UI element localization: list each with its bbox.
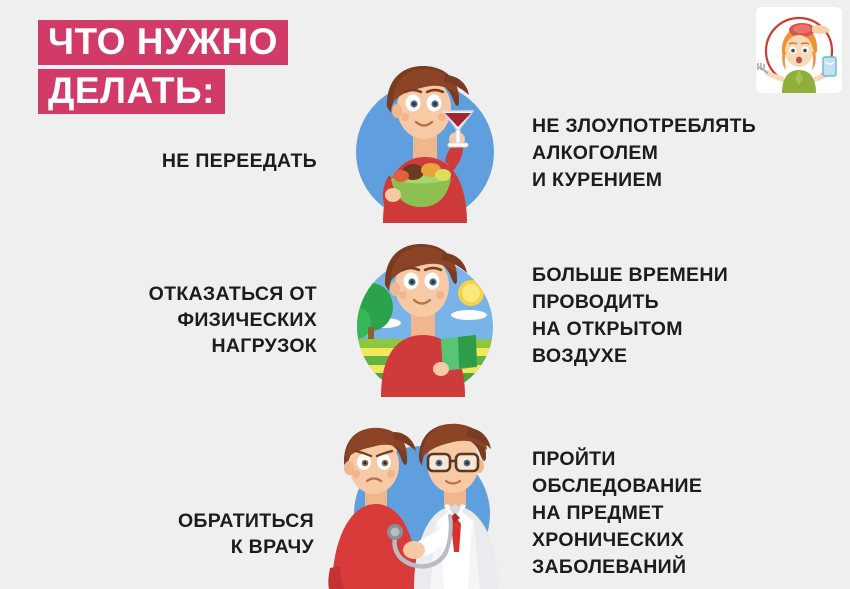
page-title: ЧТО НУЖНО ДЕЛАТЬ: — [38, 20, 288, 114]
label-left-row-2: ОТКАЗАТЬСЯ ОТ ФИЗИЧЕСКИХ НАГРУЗОК — [149, 281, 317, 359]
label-left-row-3-line-2: К ВРАЧУ — [178, 534, 314, 560]
label-left-row-1: НЕ ПЕРЕЕДАТЬ — [162, 148, 317, 174]
illustration-doctor-examining-patient — [318, 418, 523, 589]
label-right-row-3: ПРОЙТИ ОБСЛЕДОВАНИЕ НА ПРЕДМЕТ ХРОНИЧЕСК… — [532, 446, 702, 581]
illustration-man-with-salad-and-wine-glass — [345, 55, 505, 223]
label-right-row-2-line-3: НА ОТКРЫТОМ — [532, 316, 728, 343]
label-right-row-2-line-1: БОЛЬШЕ ВРЕМЕНИ — [532, 262, 728, 289]
label-right-row-1-line-2: АЛКОГОЛЕМ — [532, 140, 756, 167]
page-title-line-2: ДЕЛАТЬ: — [38, 69, 225, 114]
label-right-row-3-line-5: ЗАБОЛЕВАНИЙ — [532, 554, 702, 581]
label-right-row-2-line-4: ВОЗДУХЕ — [532, 343, 728, 370]
label-right-row-1: НЕ ЗЛОУПОТРЕБЛЯТЬ АЛКОГОЛЕМ И КУРЕНИЕМ — [532, 113, 756, 194]
label-left-row-3: ОБРАТИТЬСЯ К ВРАЧУ — [178, 508, 314, 560]
hangover-woman-logo — [756, 7, 842, 93]
logo-illustration — [756, 7, 842, 93]
label-right-row-1-line-3: И КУРЕНИЕМ — [532, 167, 756, 194]
infographic-page: ЧТО НУЖНО ДЕЛАТЬ: — [0, 0, 850, 589]
label-right-row-3-line-3: НА ПРЕДМЕТ — [532, 500, 702, 527]
label-left-row-3-line-1: ОБРАТИТЬСЯ — [178, 508, 314, 534]
label-right-row-3-line-2: ОБСЛЕДОВАНИЕ — [532, 473, 702, 500]
illustration-man-reading-book-outdoors — [345, 235, 505, 397]
label-right-row-3-line-1: ПРОЙТИ — [532, 446, 702, 473]
label-left-row-2-line-1: ОТКАЗАТЬСЯ ОТ — [149, 281, 317, 307]
label-right-row-3-line-4: ХРОНИЧЕСКИХ — [532, 527, 702, 554]
label-right-row-2: БОЛЬШЕ ВРЕМЕНИ ПРОВОДИТЬ НА ОТКРЫТОМ ВОЗ… — [532, 262, 728, 370]
label-left-row-2-line-2: ФИЗИЧЕСКИХ — [149, 307, 317, 333]
label-right-row-1-line-1: НЕ ЗЛОУПОТРЕБЛЯТЬ — [532, 113, 756, 140]
label-right-row-2-line-2: ПРОВОДИТЬ — [532, 289, 728, 316]
label-left-row-2-line-3: НАГРУЗОК — [149, 333, 317, 359]
page-title-line-1: ЧТО НУЖНО — [38, 20, 288, 65]
label-left-row-1-line-1: НЕ ПЕРЕЕДАТЬ — [162, 148, 317, 174]
